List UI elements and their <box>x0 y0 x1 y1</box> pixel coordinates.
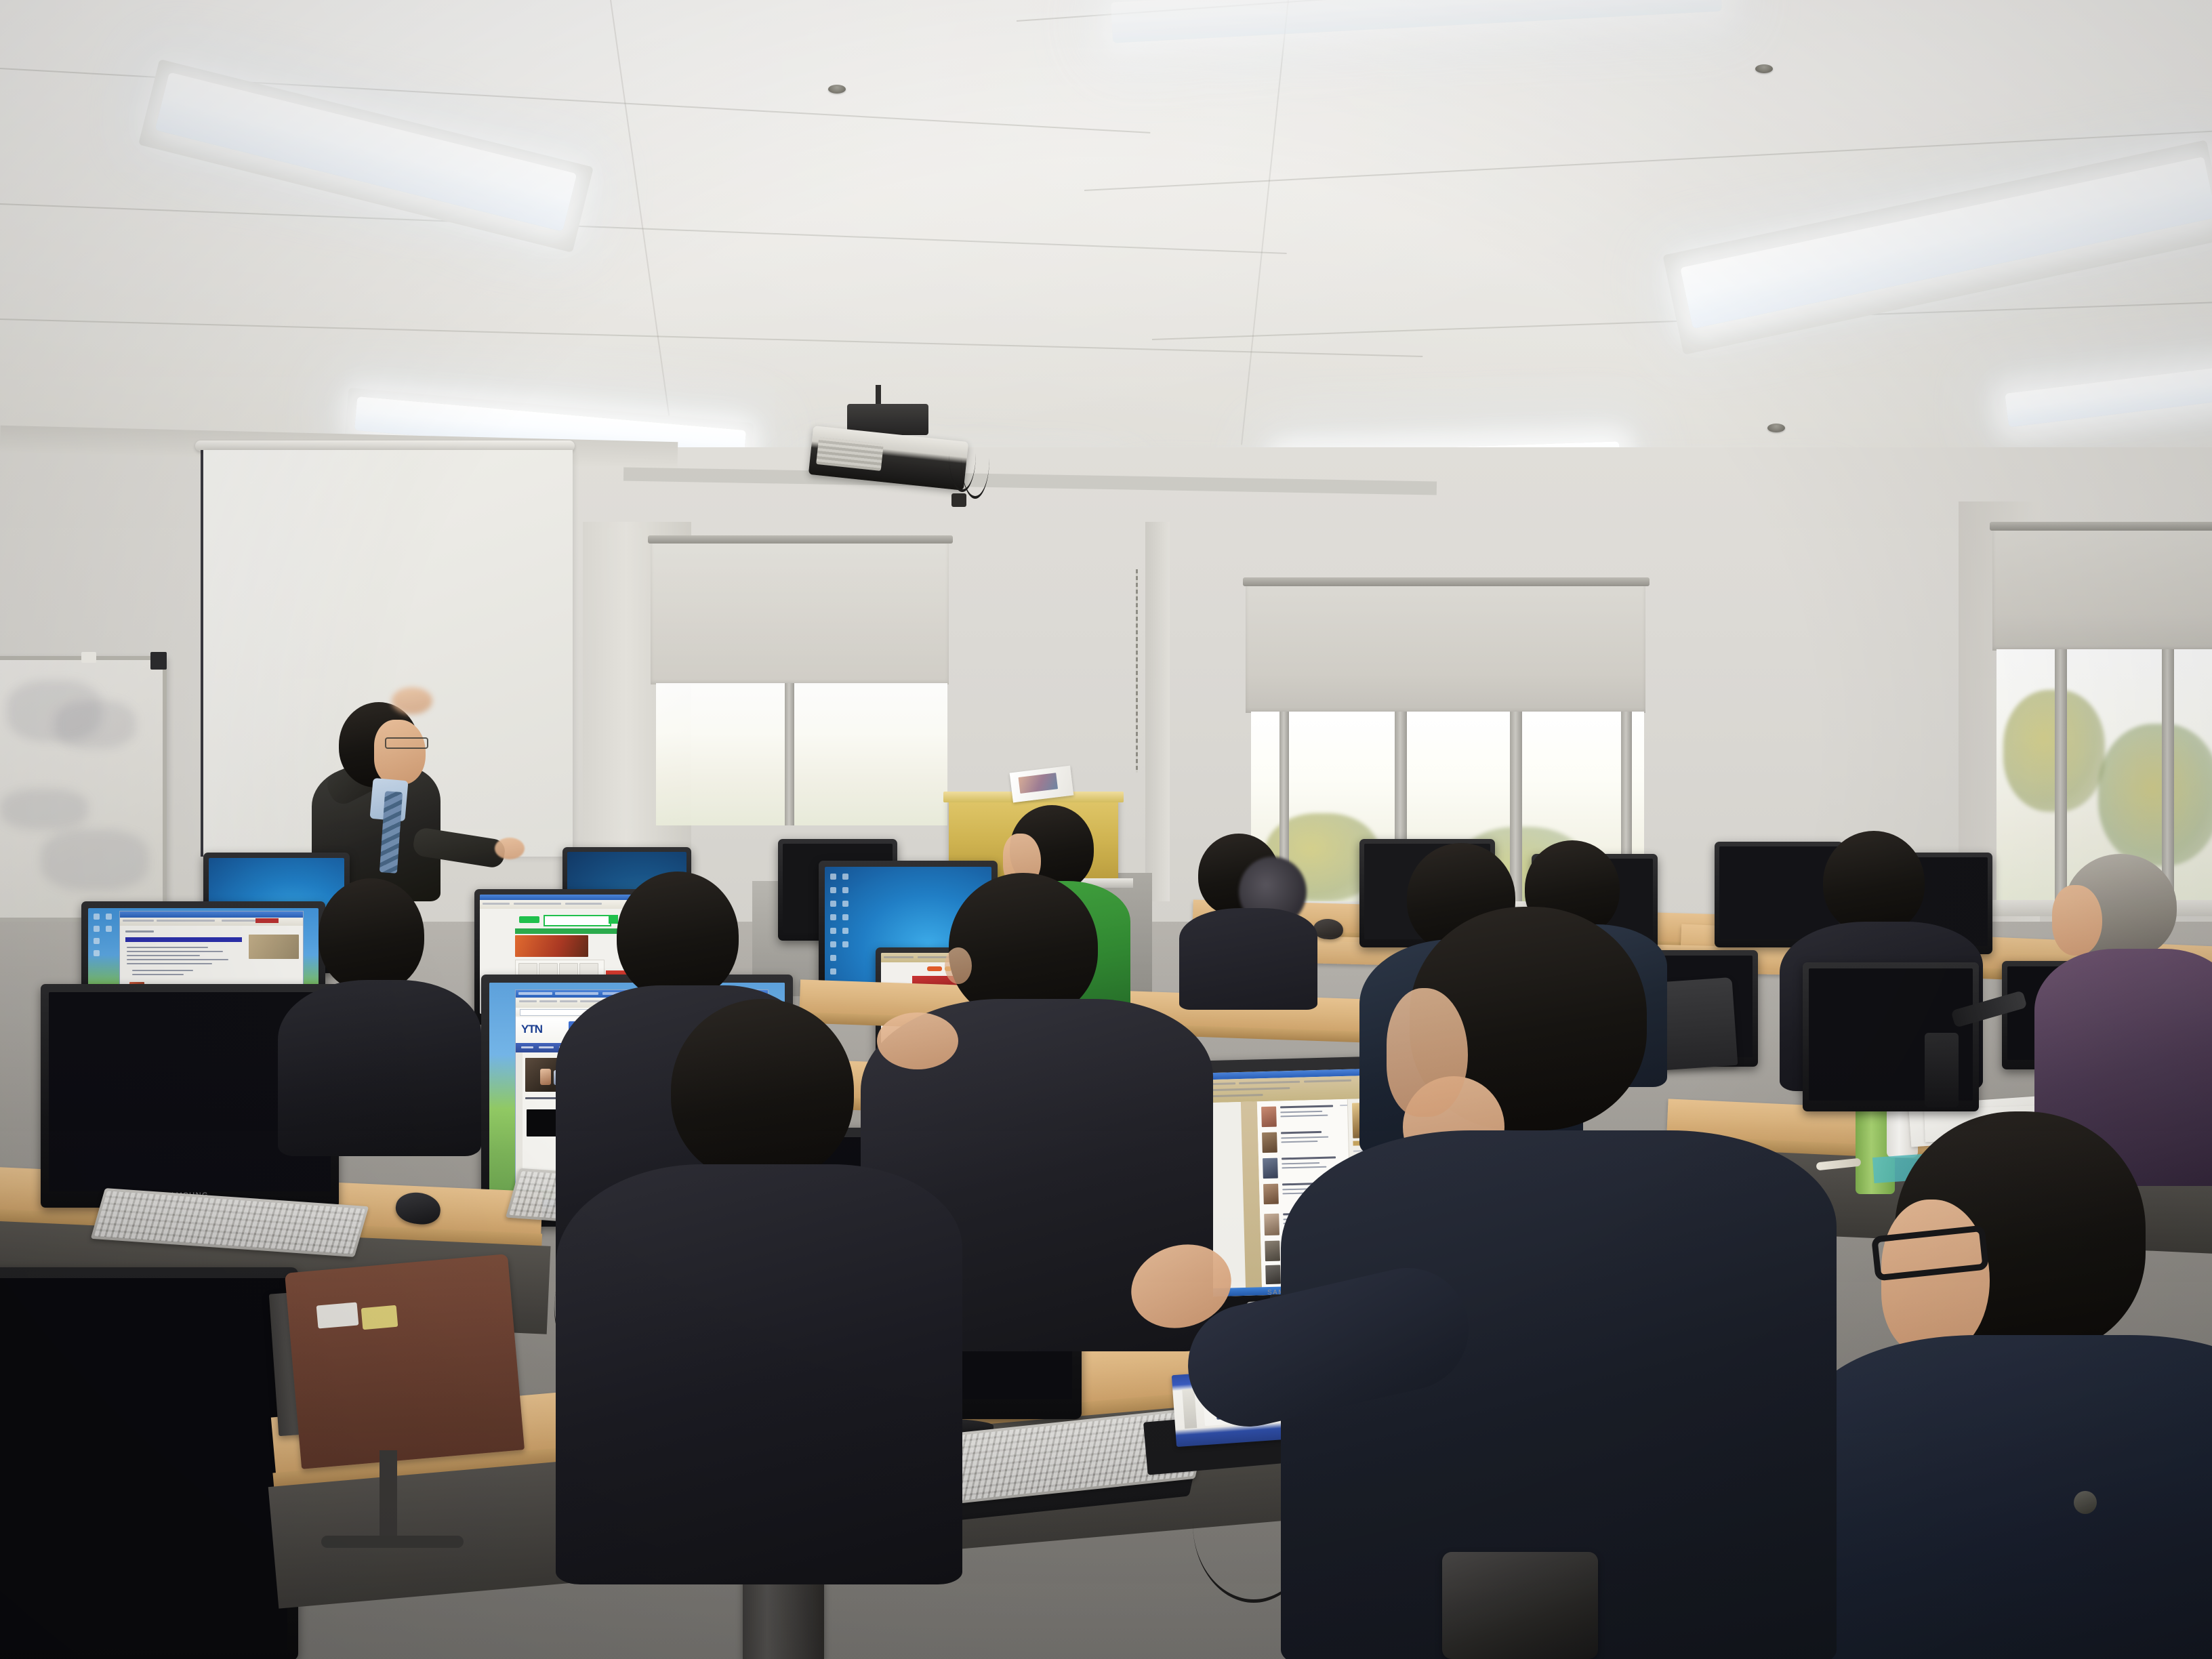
smoke-detector-icon <box>1767 424 1785 432</box>
monitor-arm <box>1925 1033 1959 1107</box>
smoke-detector-icon <box>828 85 846 94</box>
smoke-detector-icon <box>1755 64 1773 73</box>
student-torso <box>1179 908 1317 1010</box>
student-glasses-right <box>1841 1111 2212 1659</box>
student-head <box>1823 831 1925 934</box>
student-head <box>617 872 739 1000</box>
whiteboard <box>0 656 167 922</box>
chair-sticker <box>361 1305 398 1330</box>
window-mullion <box>785 683 794 825</box>
wall-column <box>1145 522 1170 901</box>
student-front-bottom-left <box>583 999 935 1589</box>
student-front-left <box>291 878 474 1149</box>
classroom-scene: SAMSUNG <box>0 0 2212 1659</box>
instructor-face <box>374 720 426 785</box>
glasses-icon <box>385 737 428 749</box>
whiteboard-clip <box>81 652 96 663</box>
student-fur-hood <box>1179 834 1315 1003</box>
chair-sticker <box>316 1302 359 1328</box>
whiteboard-corner <box>150 652 167 670</box>
monitor-foreground-left <box>0 1267 298 1659</box>
blind-rail <box>648 535 953 544</box>
student-head <box>319 878 424 992</box>
window-pane-group <box>656 683 947 825</box>
ytn-logo: YTN <box>521 1023 559 1036</box>
student-torso <box>278 980 481 1156</box>
student-face <box>1387 988 1468 1117</box>
coat-button <box>2074 1491 2097 1514</box>
projector-cable <box>961 417 989 499</box>
chair-base <box>321 1536 464 1548</box>
student-ear <box>945 947 972 984</box>
student-foreground-center <box>1328 907 1803 1659</box>
naver-logo <box>519 916 539 923</box>
student-head <box>671 999 854 1182</box>
chair-post <box>380 1450 397 1545</box>
blind-pull-cord[interactable] <box>1136 569 1138 773</box>
blind-rail <box>1243 577 1650 586</box>
bag[interactable] <box>1442 1552 1598 1659</box>
roller-blind[interactable] <box>1246 584 1645 713</box>
blind-rail <box>1990 522 2212 531</box>
student-face <box>2052 885 2102 956</box>
roller-blind[interactable] <box>651 542 949 684</box>
instructor-raised-hand <box>392 687 432 714</box>
roller-blind[interactable] <box>1992 529 2212 651</box>
student-torso <box>1807 1335 2212 1659</box>
student-torso <box>556 1164 962 1584</box>
chair-left[interactable] <box>285 1254 525 1469</box>
instructor-hand <box>495 838 525 859</box>
projector-connector <box>951 493 966 507</box>
